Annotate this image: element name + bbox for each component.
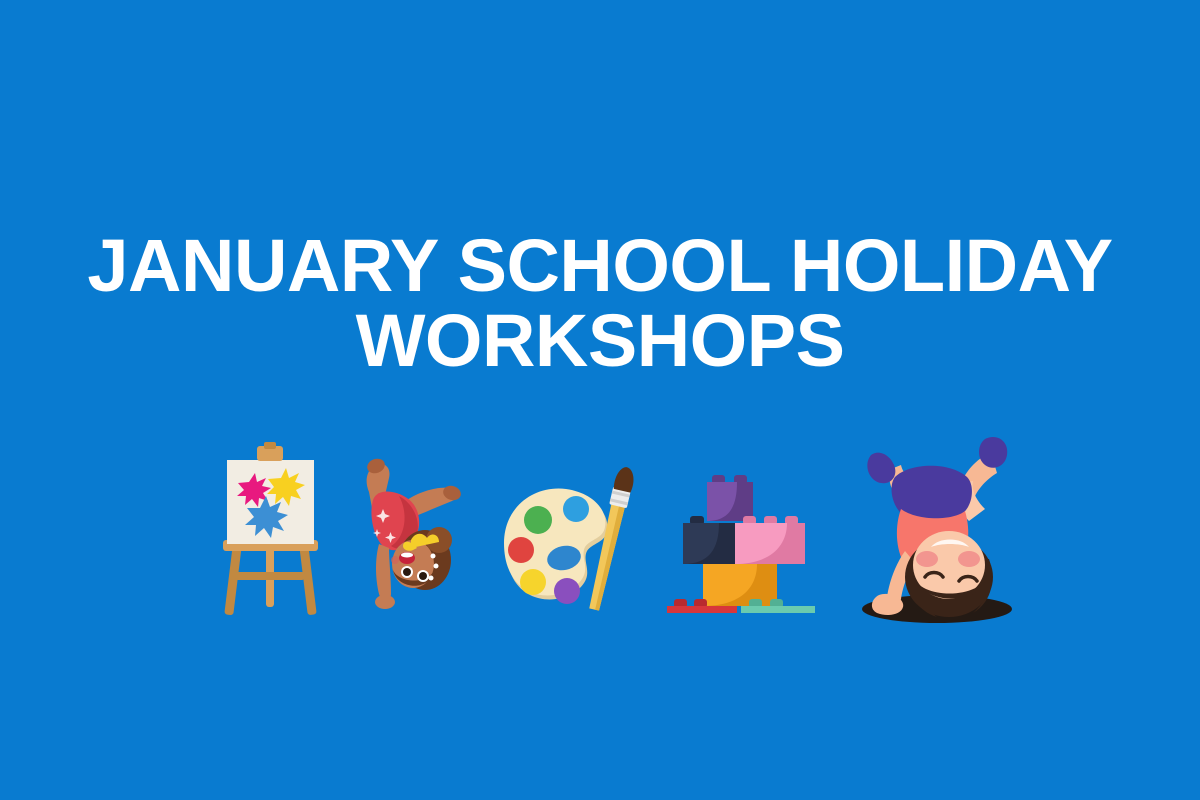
page-title: JANUARY SCHOOL HOLIDAY WORKSHOPS xyxy=(0,228,1200,378)
breakdancer-kid-icon xyxy=(845,425,1015,630)
painting-easel-icon xyxy=(213,442,328,622)
headline-line-1: JANUARY SCHOOL HOLIDAY xyxy=(0,228,1200,303)
promo-banner: JANUARY SCHOOL HOLIDAY WORKSHOPS xyxy=(0,0,1200,800)
building-blocks-icon xyxy=(665,463,820,618)
paint-palette-icon xyxy=(490,465,640,620)
illustration-row xyxy=(0,410,1200,630)
gymnast-girl-icon xyxy=(345,452,467,622)
headline-line-2: WORKSHOPS xyxy=(0,303,1200,378)
